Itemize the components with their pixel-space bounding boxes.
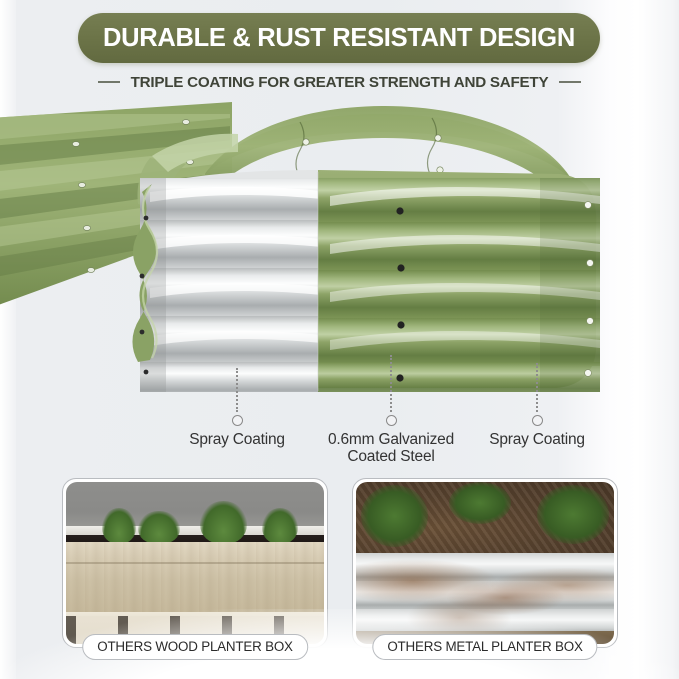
leader-line bbox=[536, 363, 538, 412]
leader-dot bbox=[532, 415, 543, 426]
callout-spray-coating-left: Spray Coating bbox=[177, 368, 297, 448]
title-banner: DURABLE & RUST RESISTANT DESIGN bbox=[78, 13, 600, 63]
infographic-page: DURABLE & RUST RESISTANT DESIGN TRIPLE C… bbox=[0, 0, 679, 679]
photo-wood-panel bbox=[66, 542, 324, 613]
subtitle-row: TRIPLE COATING FOR GREATER STRENGTH AND … bbox=[0, 70, 679, 94]
leader-line bbox=[236, 368, 238, 412]
wood-grain-texture bbox=[66, 542, 324, 613]
callout-label: Spray Coating bbox=[189, 431, 285, 448]
callout-galvanized-steel: 0.6mm Galvanized Coated Steel bbox=[311, 355, 471, 466]
herb-plant bbox=[102, 508, 136, 544]
leader-line bbox=[390, 355, 392, 412]
herb-plant bbox=[262, 508, 298, 544]
photo-plant bbox=[361, 485, 428, 547]
herb-plant bbox=[138, 511, 179, 543]
page-subtitle: TRIPLE COATING FOR GREATER STRENGTH AND … bbox=[131, 74, 549, 91]
callout-label: Spray Coating bbox=[489, 431, 585, 448]
page-title: DURABLE & RUST RESISTANT DESIGN bbox=[103, 24, 575, 53]
subtitle-dash-right bbox=[559, 81, 581, 83]
card-caption: OTHERS WOOD PLANTER BOX bbox=[82, 634, 308, 660]
card-caption: OTHERS METAL PLANTER BOX bbox=[372, 634, 597, 660]
photo-plant bbox=[537, 485, 609, 543]
leader-dot bbox=[232, 415, 243, 426]
leader-dot bbox=[386, 415, 397, 426]
callout-spray-coating-right: Spray Coating bbox=[477, 363, 597, 448]
callout-label: 0.6mm Galvanized Coated Steel bbox=[328, 431, 454, 466]
front-silver-cutaway bbox=[140, 170, 330, 398]
photo-plant bbox=[449, 482, 511, 524]
herb-plant bbox=[200, 501, 246, 543]
subtitle-dash-left bbox=[98, 81, 120, 83]
